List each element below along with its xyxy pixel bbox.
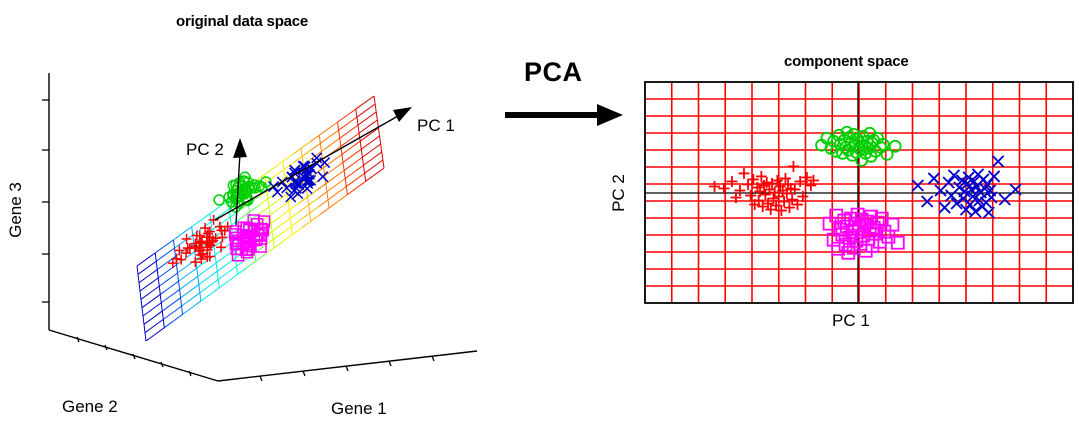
gene1-axis-label: Gene 1: [331, 399, 387, 419]
gene3-axis-label: Gene 3: [6, 175, 26, 245]
gene2-axis-label: Gene 2: [62, 397, 118, 417]
right-panel-title: component space: [784, 53, 909, 70]
pc1-label-3d: PC 1: [417, 116, 455, 136]
pc2-axis-label: PC 2: [609, 163, 629, 223]
pc2-label-3d: PC 2: [186, 140, 224, 160]
left-panel-title: original data space: [176, 13, 308, 30]
pc1-axis-label: PC 1: [832, 311, 870, 331]
pca-label: PCA: [524, 57, 583, 88]
